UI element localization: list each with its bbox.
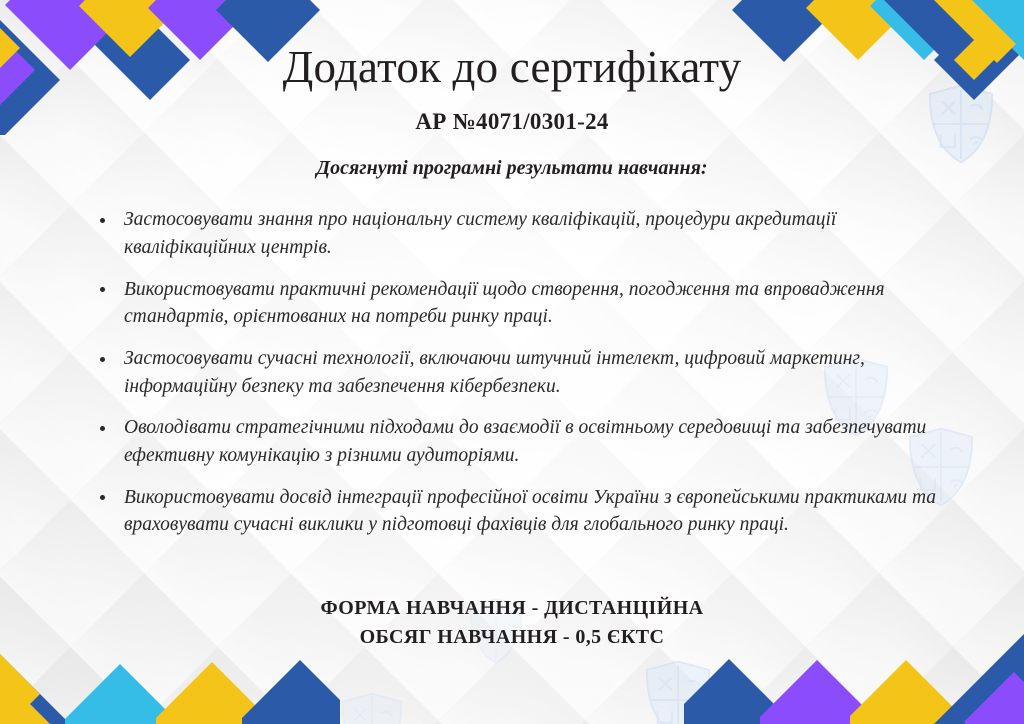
- list-item: Оволодівати стратегічними підходами до в…: [98, 414, 948, 469]
- bullet-icon: [100, 426, 105, 431]
- list-item: Застосовувати сучасні технології, включа…: [98, 345, 948, 400]
- list-item: Використовувати досвід інтеграції профес…: [98, 484, 948, 539]
- list-item-text: Використовувати практичні рекомендації щ…: [124, 279, 885, 328]
- page-title: Додаток до сертифікату: [76, 44, 948, 91]
- outcomes-list: Застосовувати знання про національну сис…: [76, 206, 948, 553]
- certificate-number: АР №4071/0301-24: [76, 109, 948, 135]
- certificate-content: Додаток до сертифікату АР №4071/0301-24 …: [0, 0, 1024, 724]
- bullet-icon: [100, 357, 105, 362]
- study-form-line: ФОРМА НАВЧАННЯ - ДИСТАНЦІЙНА: [76, 594, 948, 623]
- study-volume-line: ОБСЯГ НАВЧАННЯ - 0,5 ЄКТС: [76, 623, 948, 652]
- list-item-text: Застосовувати сучасні технології, включа…: [124, 348, 865, 397]
- bullet-icon: [100, 287, 105, 292]
- list-item: Використовувати практичні рекомендації щ…: [98, 276, 948, 331]
- outcomes-heading: Досягнуті програмні результати навчання:: [76, 157, 948, 180]
- footer-block: ФОРМА НАВЧАННЯ - ДИСТАНЦІЙНА ОБСЯГ НАВЧА…: [76, 594, 948, 652]
- list-item-text: Застосовувати знання про національну сис…: [124, 209, 836, 258]
- bullet-icon: [100, 495, 105, 500]
- list-item-text: Використовувати досвід інтеграції профес…: [124, 487, 936, 536]
- list-item-text: Оволодівати стратегічними підходами до в…: [124, 417, 926, 466]
- bullet-icon: [100, 218, 105, 223]
- certificate-page: Додаток до сертифікату АР №4071/0301-24 …: [0, 0, 1024, 724]
- list-item: Застосовувати знання про національну сис…: [98, 206, 948, 261]
